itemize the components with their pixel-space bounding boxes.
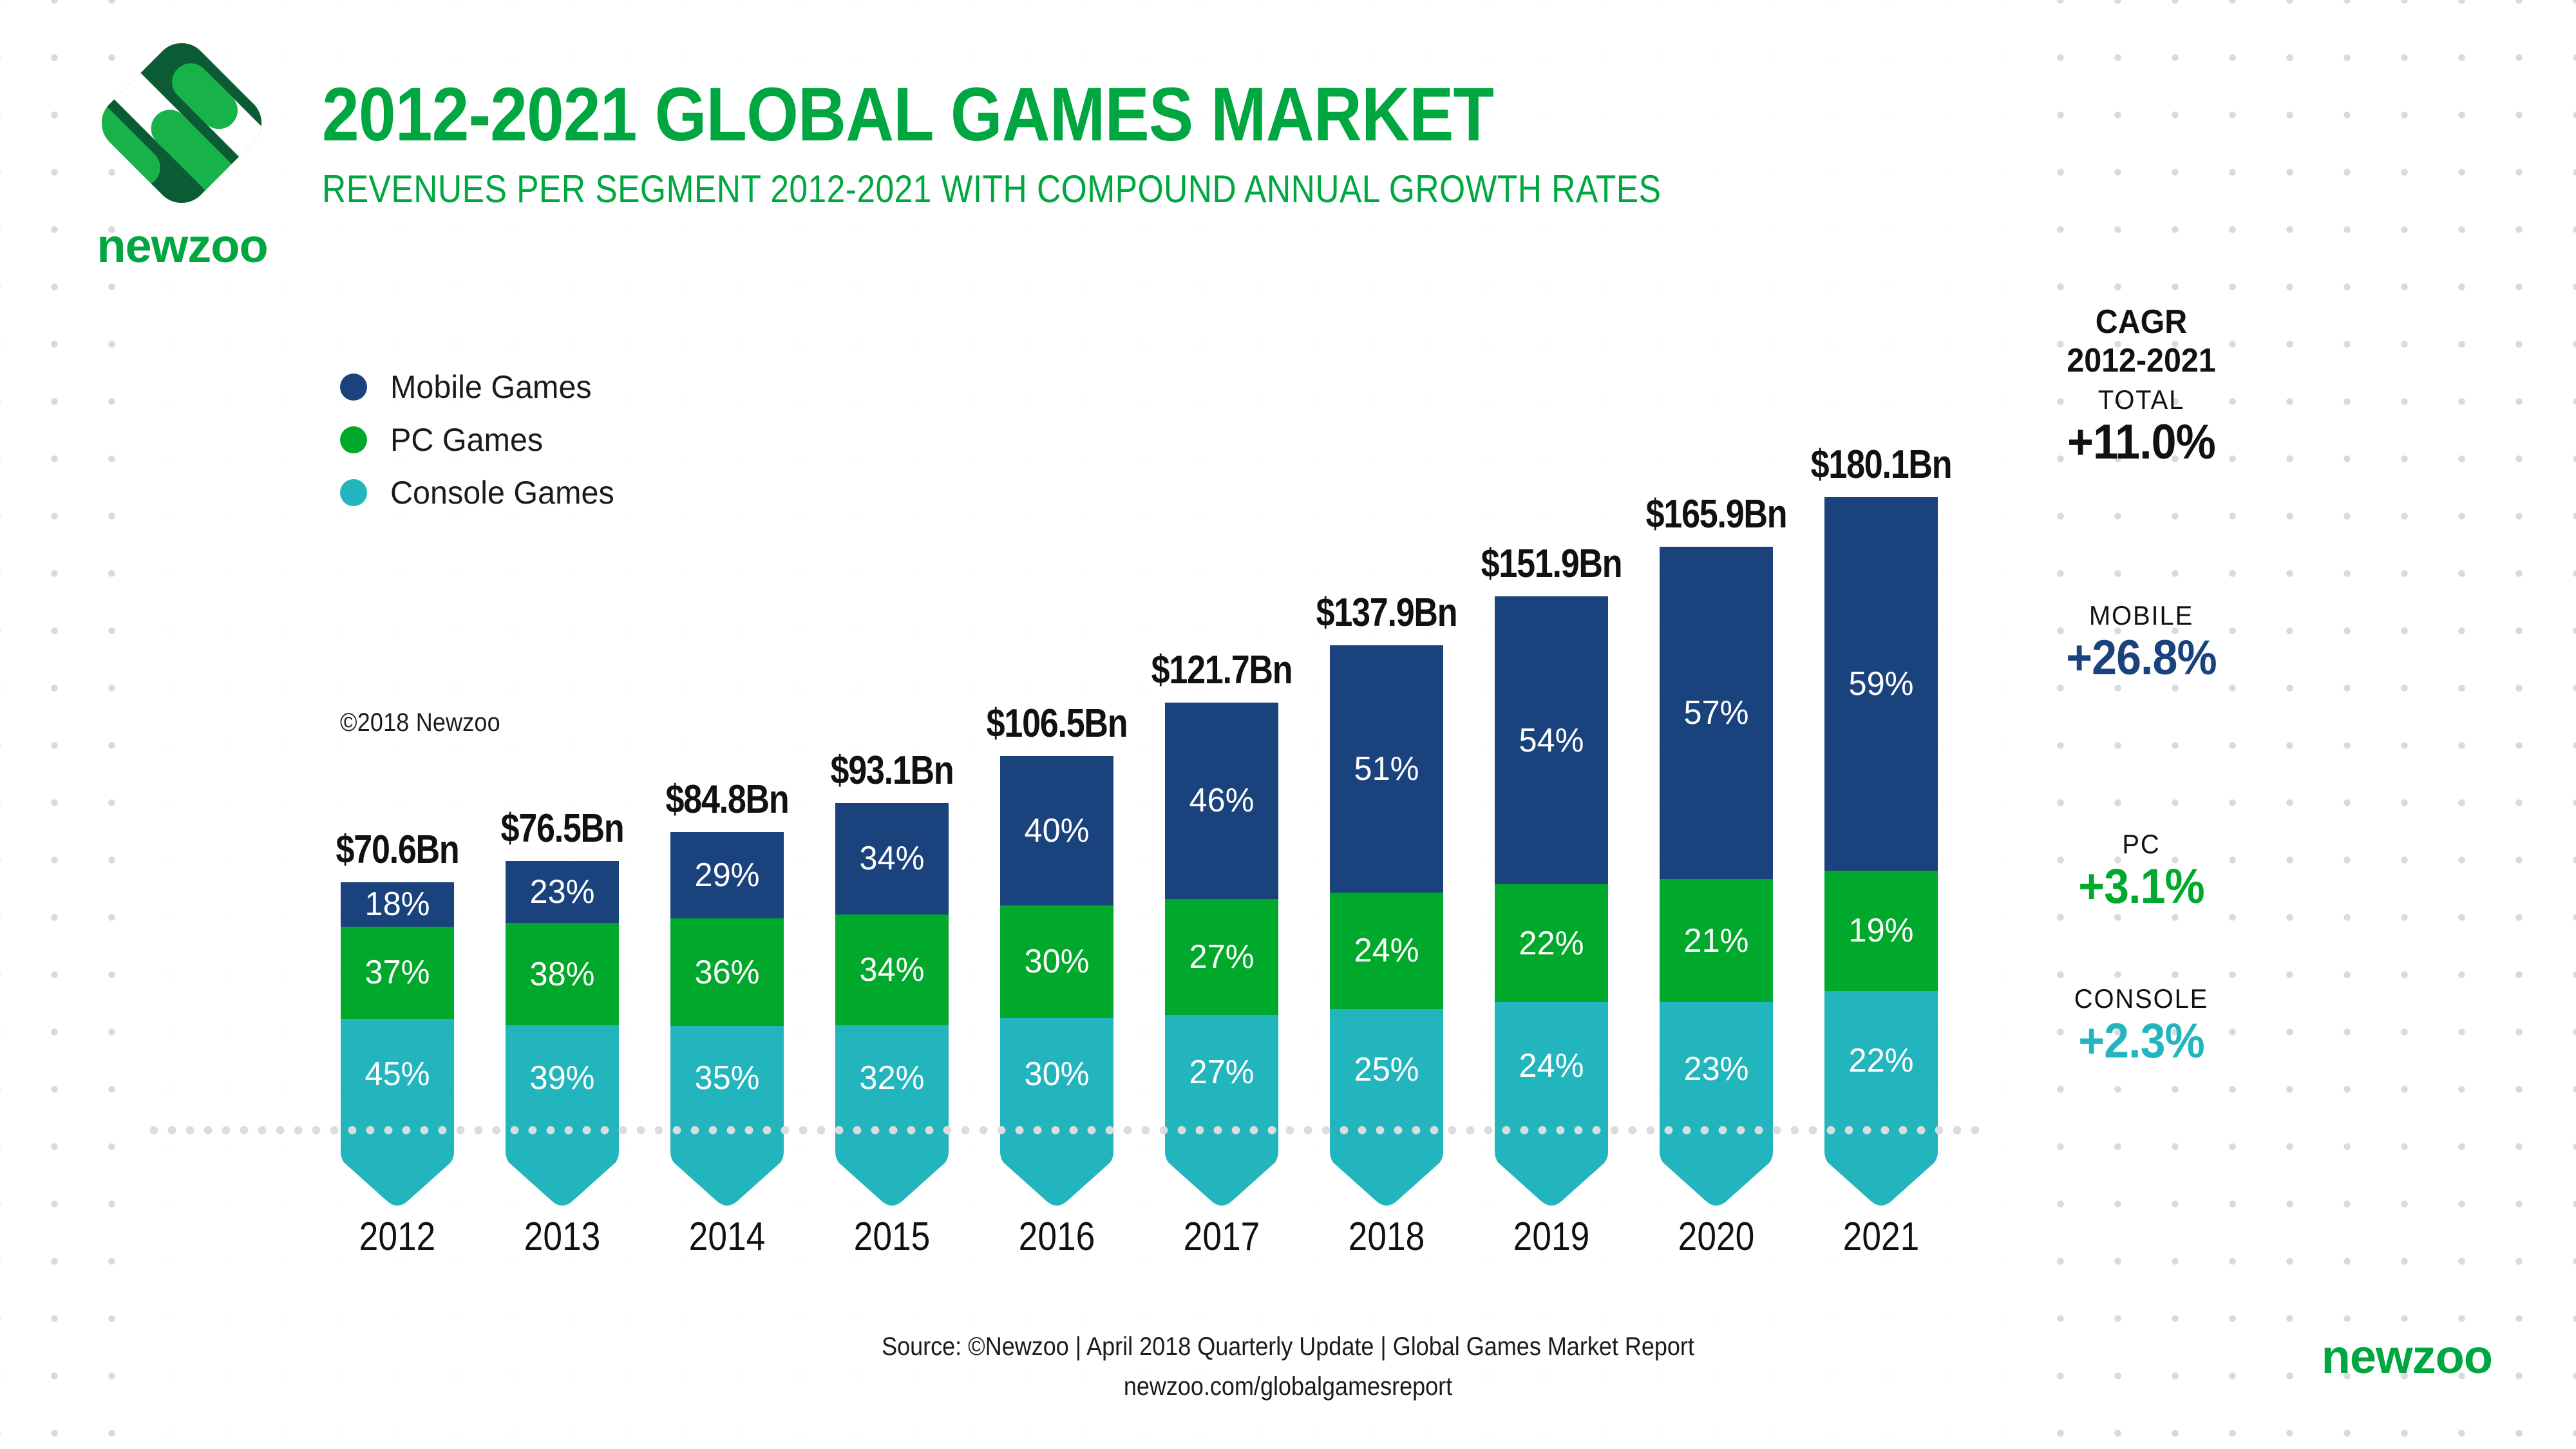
segment-percent-label: 21% <box>1684 922 1749 960</box>
segment-percent-label: 54% <box>1519 721 1584 760</box>
cagr-name-console: CONSOLE <box>2010 985 2273 1012</box>
bar-total-label-2020: $165.9Bn <box>1625 491 1807 537</box>
cagr-name-total: TOTAL <box>2010 386 2273 413</box>
bar-total-label-2018: $137.9Bn <box>1296 590 1477 636</box>
x-axis-label-2013: 2013 <box>469 1214 656 1260</box>
cagr-block-total: TOTAL+11.0% <box>2003 386 2280 471</box>
bar-segment-2016-mobile: 40% <box>1000 756 1113 906</box>
footer-source-line: Source: ©Newzoo | April 2018 Quarterly U… <box>129 1327 2447 1367</box>
bar-segment-2014-mobile: 29% <box>670 832 784 918</box>
segment-percent-label: 23% <box>1684 1050 1749 1088</box>
segment-percent-label: 39% <box>530 1059 595 1097</box>
bar-segment-2021-mobile: 59% <box>1824 497 1938 871</box>
bar-segment-2020-mobile: 57% <box>1660 547 1773 879</box>
segment-percent-label: 46% <box>1189 781 1255 820</box>
bar-stack-2012: 18%37%45% <box>341 882 454 1130</box>
segment-percent-label: 51% <box>1354 750 1419 788</box>
segment-percent-label: 18% <box>365 885 430 923</box>
bar-segment-2021-console: 22% <box>1824 991 1938 1130</box>
bar-segment-2019-console: 24% <box>1495 1002 1608 1130</box>
bar-segment-2017-console: 27% <box>1165 1015 1278 1130</box>
segment-percent-label: 36% <box>695 953 760 992</box>
stacked-bar-chart: $70.6Bn18%37%45%2012$76.5Bn23%38%39%2013… <box>0 0 2576 1449</box>
segment-percent-label: 25% <box>1354 1050 1419 1089</box>
cagr-name-mobile: MOBILE <box>2010 602 2273 629</box>
x-axis-label-2012: 2012 <box>305 1214 491 1260</box>
x-axis-label-2019: 2019 <box>1459 1214 1645 1260</box>
segment-percent-label: 24% <box>1519 1046 1584 1085</box>
cagr-value-pc: +3.1% <box>2014 858 2269 916</box>
chart-baseline-dotted <box>145 1126 1984 1135</box>
bar-tip-2020 <box>1660 1130 1773 1206</box>
bar-stack-2016: 40%30%30% <box>1000 756 1113 1130</box>
bar-total-label-2015: $93.1Bn <box>801 748 983 793</box>
bar-segment-2014-pc: 36% <box>670 918 784 1026</box>
segment-percent-label: 40% <box>1025 811 1090 850</box>
segment-percent-label: 27% <box>1189 938 1255 976</box>
bar-total-label-2017: $121.7Bn <box>1131 647 1312 693</box>
segment-percent-label: 37% <box>365 953 430 992</box>
cagr-heading: CAGR 2012-2021 <box>2012 303 2270 381</box>
segment-percent-label: 32% <box>860 1059 925 1097</box>
segment-percent-label: 34% <box>860 951 925 989</box>
bar-tip-2012 <box>341 1130 454 1206</box>
bar-segment-2019-mobile: 54% <box>1495 596 1608 885</box>
x-axis-label-2017: 2017 <box>1129 1214 1315 1260</box>
segment-percent-label: 22% <box>1849 1041 1914 1080</box>
segment-percent-label: 34% <box>860 839 925 878</box>
x-axis-label-2021: 2021 <box>1788 1214 1975 1260</box>
bar-stack-2013: 23%38%39% <box>506 861 619 1130</box>
bar-segment-2014-console: 35% <box>670 1026 784 1130</box>
bar-segment-2019-pc: 22% <box>1495 884 1608 1001</box>
bar-segment-2020-console: 23% <box>1660 1002 1773 1136</box>
bar-segment-2012-mobile: 18% <box>341 882 454 927</box>
cagr-block-mobile: MOBILE+26.8% <box>2003 602 2280 687</box>
segment-percent-label: 19% <box>1849 911 1914 950</box>
segment-percent-label: 45% <box>365 1055 430 1094</box>
bar-stack-2021: 59%19%22% <box>1824 497 1938 1130</box>
bar-segment-2013-pc: 38% <box>506 923 619 1025</box>
bar-total-label-2019: $151.9Bn <box>1461 541 1642 587</box>
bar-segment-2018-pc: 24% <box>1330 893 1443 1009</box>
cagr-block-pc: PC+3.1% <box>2003 831 2280 916</box>
bar-segment-2021-pc: 19% <box>1824 871 1938 991</box>
bar-tip-2016 <box>1000 1130 1113 1206</box>
bar-segment-2012-console: 45% <box>341 1019 454 1130</box>
bar-tip-2018 <box>1330 1130 1443 1206</box>
segment-percent-label: 35% <box>695 1059 760 1097</box>
bar-total-label-2014: $84.8Bn <box>636 777 818 822</box>
cagr-value-total: +11.0% <box>2014 413 2269 471</box>
segment-percent-label: 29% <box>695 856 760 895</box>
bar-tip-2019 <box>1495 1130 1608 1206</box>
bar-total-label-2021: $180.1Bn <box>1790 442 1972 488</box>
cagr-name-pc: PC <box>2010 831 2273 858</box>
segment-percent-label: 30% <box>1025 942 1090 981</box>
segment-percent-label: 27% <box>1189 1053 1255 1092</box>
bar-segment-2015-console: 32% <box>835 1025 949 1130</box>
footer: Source: ©Newzoo | April 2018 Quarterly U… <box>0 1327 2576 1406</box>
segment-percent-label: 23% <box>530 873 595 911</box>
bar-stack-2017: 46%27%27% <box>1165 703 1278 1130</box>
bar-segment-2018-console: 25% <box>1330 1009 1443 1130</box>
footer-url-line[interactable]: newzoo.com/globalgamesreport <box>129 1367 2447 1406</box>
bar-segment-2015-mobile: 34% <box>835 803 949 914</box>
bar-total-label-2013: $76.5Bn <box>471 806 653 851</box>
bar-segment-2016-pc: 30% <box>1000 905 1113 1018</box>
bar-tip-2015 <box>835 1130 949 1206</box>
bar-tip-2014 <box>670 1130 784 1206</box>
cagr-heading-line1: CAGR <box>2012 303 2270 341</box>
segment-percent-label: 24% <box>1354 931 1419 970</box>
cagr-value-console: +2.3% <box>2014 1012 2269 1070</box>
x-axis-label-2015: 2015 <box>799 1214 985 1260</box>
bar-tip-2021 <box>1824 1130 1938 1206</box>
x-axis-label-2018: 2018 <box>1294 1214 1480 1260</box>
bar-segment-2016-console: 30% <box>1000 1018 1113 1130</box>
bar-total-label-2016: $106.5Bn <box>966 701 1148 746</box>
bar-tip-2013 <box>506 1130 619 1206</box>
bar-segment-2020-pc: 21% <box>1660 879 1773 1001</box>
bar-total-label-2012: $70.6Bn <box>307 827 488 873</box>
bar-segment-2015-pc: 34% <box>835 914 949 1026</box>
segment-percent-label: 38% <box>530 955 595 994</box>
bar-tip-2017 <box>1165 1130 1278 1206</box>
cagr-value-mobile: +26.8% <box>2014 629 2269 687</box>
bar-segment-2013-console: 39% <box>506 1025 619 1130</box>
bar-stack-2015: 34%34%32% <box>835 803 949 1130</box>
bar-segment-2018-mobile: 51% <box>1330 645 1443 893</box>
x-axis-label-2020: 2020 <box>1624 1214 1810 1260</box>
bar-segment-2013-mobile: 23% <box>506 861 619 923</box>
bar-stack-2018: 51%24%25% <box>1330 645 1443 1130</box>
segment-percent-label: 57% <box>1684 694 1749 732</box>
cagr-heading-line2: 2012-2021 <box>2012 341 2270 380</box>
cagr-panel: CAGR 2012-2021 TOTAL+11.0%MOBILE+26.8%PC… <box>2003 303 2280 381</box>
bar-segment-2017-mobile: 46% <box>1165 703 1278 900</box>
bar-stack-2020: 57%21%23% <box>1660 547 1773 1130</box>
segment-percent-label: 22% <box>1519 924 1584 963</box>
segment-percent-label: 30% <box>1025 1055 1090 1094</box>
bar-segment-2012-pc: 37% <box>341 927 454 1019</box>
bar-stack-2019: 54%22%24% <box>1495 596 1608 1130</box>
footer-newzoo-wordmark: newzoo <box>2322 1333 2492 1381</box>
cagr-block-console: CONSOLE+2.3% <box>2003 985 2280 1070</box>
x-axis-label-2014: 2014 <box>634 1214 820 1260</box>
bar-stack-2014: 29%36%35% <box>670 832 784 1130</box>
x-axis-label-2016: 2016 <box>964 1214 1150 1260</box>
bar-segment-2017-pc: 27% <box>1165 899 1278 1014</box>
segment-percent-label: 59% <box>1849 665 1914 703</box>
